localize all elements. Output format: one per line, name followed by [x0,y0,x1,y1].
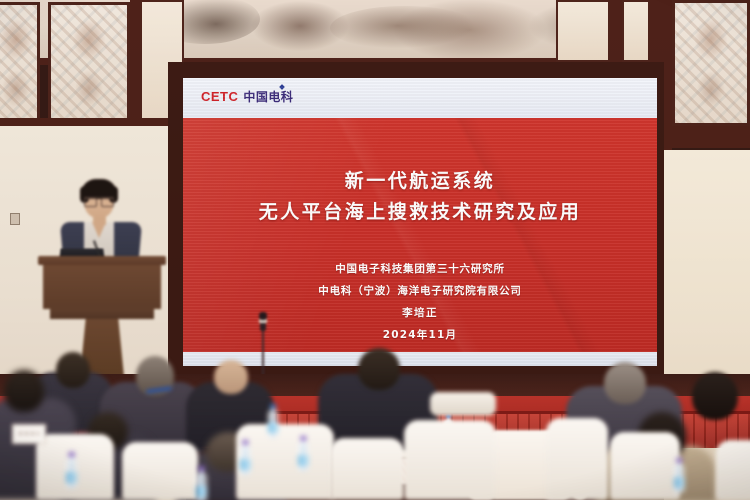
logo-latin-text: CETC [201,89,238,104]
podium-ledge [50,309,154,319]
presentation-slide: CETC 中国电科 新一代航运系统 无人平台海上搜救技术研究及应用 中国电子科技… [183,78,657,366]
chair-arm-1 [430,392,496,416]
podium-body [43,265,161,309]
chair-back-2 [122,442,198,500]
attendee-back-4-head [358,348,400,390]
attendee-front-1-head [4,370,44,412]
chair-back-5 [404,420,496,500]
slide-subtitle-line-2: 中电科（宁波）海洋电子研究院有限公司 [183,280,657,302]
damask-panel-left-2 [48,2,130,124]
slide-title: 新一代航运系统 无人平台海上搜救技术研究及应用 [183,166,657,228]
wall-panel-right-2 [622,0,650,62]
wall-frame-left-vertical [130,0,140,128]
chair-back-6 [546,418,608,500]
water-bottle-audience-4 [268,404,278,443]
name-card-audience [12,424,46,444]
slide-presenter-name: 李培正 [183,302,657,324]
podium-top [38,256,166,265]
slide-subtitle: 中国电子科技集团第三十六研究所 中电科（宁波）海洋电子研究院有限公司 李培正 2… [183,258,657,346]
chair-back-7 [610,432,680,500]
cetc-logo: CETC 中国电科 [201,88,293,105]
mic-pole [262,326,264,378]
floor-microphone-stand [259,312,267,378]
water-bottle-audience-5 [298,436,309,477]
microphone-icon [259,312,267,320]
damask-panel-right [672,0,750,126]
attendee-back-1-head [56,352,90,388]
attendee-back-6-head [692,372,738,420]
slide-header-bar: CETC 中国电科 [183,78,657,118]
damask-panel-left-1 [0,2,40,124]
logo-chinese-text: 中国电科 [243,88,293,105]
slide-footer-bar [183,352,657,366]
slide-subtitle-line-1: 中国电子科技集团第三十六研究所 [183,258,657,280]
attendee-back-5-head [604,362,646,404]
attendee-back-3-head [214,360,248,394]
chair-back-4 [330,438,404,500]
wall-panel-right-1 [556,0,610,62]
wall-frame-right-band [650,126,750,148]
water-bottle-audience-6 [674,458,685,499]
slide-date: 2024年11月 [183,324,657,346]
water-bottle-audience-2 [196,466,207,500]
light-switch[interactable] [10,213,20,225]
glasses-icon [84,197,114,205]
slide-title-line-1: 新一代航运系统 [183,166,657,197]
slide-title-line-2: 无人平台海上搜救技术研究及应用 [183,197,657,228]
wall-frame-right-vertical-1 [610,0,622,62]
conference-photo: CETC 中国电科 新一代航运系统 无人平台海上搜救技术研究及应用 中国电子科技… [0,0,750,500]
chair-back-8 [716,440,750,500]
water-bottle-audience-3 [240,440,251,481]
water-bottle-audience-1 [66,452,77,495]
